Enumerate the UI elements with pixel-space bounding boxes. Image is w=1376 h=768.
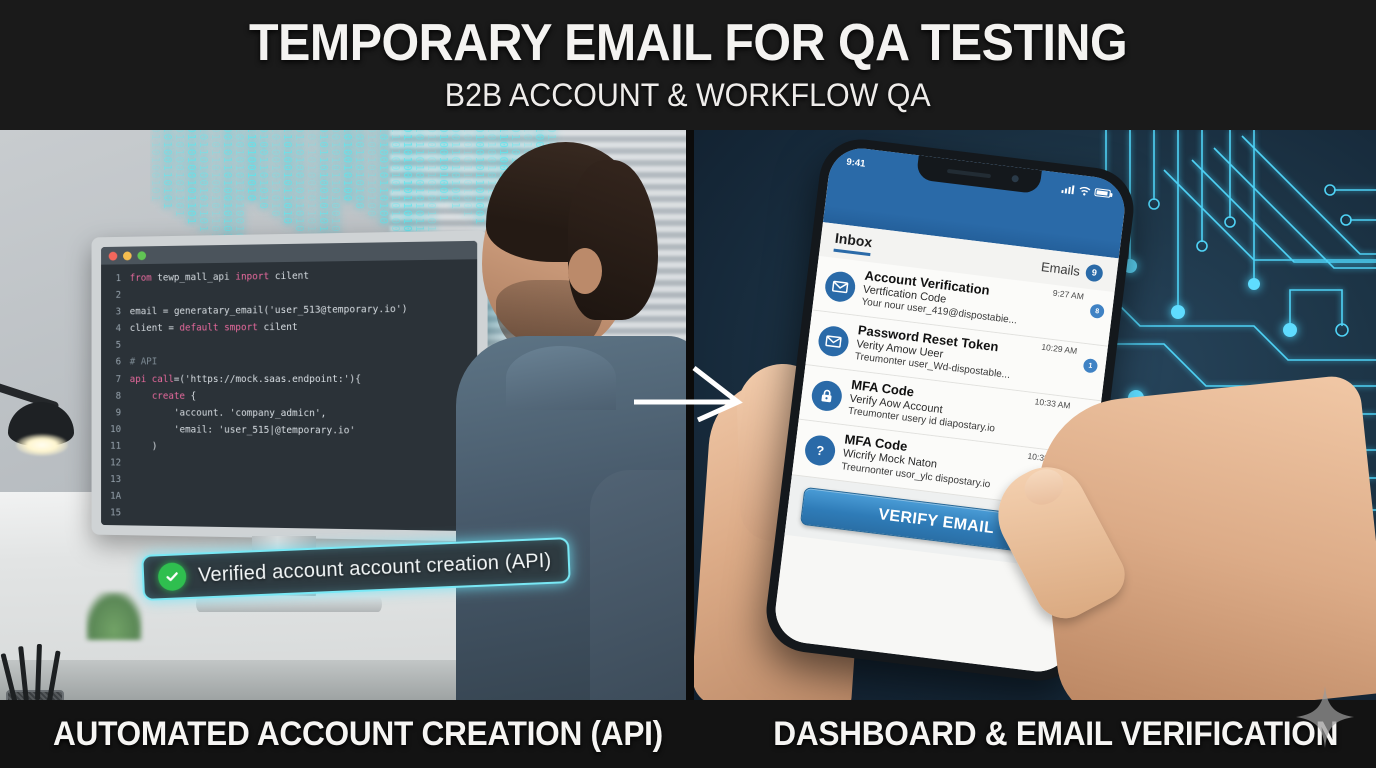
code-line-number: 1: [101, 270, 130, 287]
code-line-number: 1A: [101, 488, 130, 505]
left-panel-office-scene: 0110100101101001101010101001011010110100…: [0, 130, 686, 700]
code-editor[interactable]: 1from tewp_mall_api inport cilent23email…: [101, 259, 477, 531]
earpiece-speaker: [947, 169, 991, 178]
monitor-base: [196, 596, 382, 612]
digital-rain-column: 010010110100: [366, 130, 377, 217]
small-plant: [86, 592, 142, 640]
code-line: 5: [101, 335, 477, 354]
digital-rain-column: 010110100101101: [210, 130, 221, 240]
email-unread-badge: 8: [1089, 303, 1105, 319]
digital-rain-column: 1010010100: [342, 130, 353, 202]
digital-rain-column: 1101001011010: [282, 130, 293, 225]
code-line-number: 6: [101, 354, 130, 371]
status-time: 9:41: [846, 156, 866, 169]
lock-icon: [810, 379, 843, 412]
code-line-number: 13: [101, 471, 130, 488]
svg-text:?: ?: [815, 443, 825, 459]
code-line-number: 9: [101, 404, 130, 421]
code-line: 6# API: [101, 353, 477, 371]
digital-rain-column: 101101001011010: [306, 130, 317, 240]
wifi-icon: [1078, 186, 1091, 196]
poster-root: TEMPORARY EMAIL FOR QA TESTING B2B ACCOU…: [0, 0, 1376, 768]
person-hair-back: [568, 160, 658, 320]
digital-rain-column: 011010010110100: [402, 130, 413, 240]
code-line-number: 12: [101, 455, 130, 472]
digital-rain-column: 101001011010: [270, 130, 281, 217]
code-line-number: 4: [101, 320, 130, 337]
signal-icon: [1061, 184, 1075, 195]
person-arm: [590, 470, 686, 700]
digital-rain-column: 0101101001010110: [318, 130, 329, 248]
digital-rain-column: 1010010110100: [378, 130, 389, 225]
code-line-number: 10: [101, 421, 130, 438]
header-bar: TEMPORARY EMAIL FOR QA TESTING B2B ACCOU…: [0, 0, 1376, 130]
close-dot-icon[interactable]: [109, 251, 118, 260]
code-line-text: create {: [130, 388, 196, 405]
envelope-icon: [823, 270, 856, 303]
panels-row: 0110100101101001101010101001011010110100…: [0, 130, 1376, 700]
code-line-number: 11: [101, 438, 130, 455]
code-line-text: 'email: 'user_515|@temporary.io': [130, 421, 356, 439]
emails-count-badge: 9: [1085, 263, 1104, 282]
digital-rain-column: 010100101101: [174, 130, 185, 217]
status-indicators: [1061, 184, 1111, 199]
pen-cup: [6, 690, 64, 700]
code-line: 10 'email: 'user_515|@temporary.io': [101, 421, 477, 440]
code-line-text: email = generatary_email('user_513@tempo…: [130, 301, 408, 321]
code-line-text: from tewp_mall_api inport cilent: [130, 268, 309, 287]
desk-lamp-light: [16, 434, 68, 456]
code-line: 7api call=('https://mock.saas.endpoint:'…: [101, 370, 477, 387]
digital-rain-column: 11010010110100: [390, 130, 401, 233]
page-subtitle: B2B ACCOUNT & WORKFLOW QA: [445, 77, 931, 114]
code-line-number: 15: [101, 505, 130, 522]
code-line-number: 8: [101, 388, 130, 405]
caption-left: AUTOMATED ACCOUNT CREATION (API): [53, 700, 663, 768]
person-ear: [568, 248, 602, 294]
check-circle-icon: [158, 562, 187, 591]
person-collar: [506, 346, 616, 410]
battery-icon: [1094, 188, 1111, 198]
front-camera: [1011, 175, 1019, 183]
envelope-icon: [817, 325, 850, 358]
digital-rain-column: 10110100101101: [198, 130, 209, 233]
code-line-text: 'account. 'company_admicn',: [130, 404, 327, 422]
digital-rain-column: 0010110100101011: [222, 130, 233, 248]
flow-arrow-icon: [632, 362, 752, 422]
digital-rain-column: 01101001011010: [294, 130, 305, 233]
digital-rain-column: 0110100101101: [186, 130, 197, 225]
digital-rain-column: 10100110101: [162, 130, 173, 210]
caption-right: DASHBOARD & EMAIL VERIFICATION: [773, 700, 1338, 768]
digital-rain-column: 10011010100: [354, 130, 365, 210]
code-line: 9 'account. 'company_admicn',: [101, 404, 477, 422]
digital-rain-column: 01001101010: [258, 130, 269, 210]
question-icon: ?: [803, 434, 836, 467]
code-line-text: # API: [130, 354, 158, 371]
maximize-dot-icon[interactable]: [137, 251, 146, 260]
sparkle-diamond-icon: [1296, 686, 1354, 748]
verified-banner-label: Verified account account creation (API): [198, 549, 552, 587]
tab-emails-group[interactable]: Emails 9: [1040, 258, 1104, 282]
pencil: [35, 644, 42, 700]
code-line: 8 create {: [101, 388, 477, 406]
code-line-text: client = default smport cilent: [130, 319, 298, 337]
desktop-monitor: 1from tewp_mall_api inport cilent23email…: [92, 230, 488, 541]
code-line-text: api call=('https://mock.saas.endpoint:')…: [130, 370, 361, 387]
tab-emails[interactable]: Emails: [1040, 259, 1081, 279]
monitor-screen: 1from tewp_mall_api inport cilent23email…: [101, 241, 477, 531]
code-line-number: 5: [101, 337, 130, 354]
code-line-text: ): [130, 438, 158, 455]
digital-rain-column: 1011010010101101: [414, 130, 425, 248]
digital-rain-column: 0110100101: [150, 130, 161, 202]
code-line-number: 7: [101, 371, 130, 388]
code-line-number: 3: [101, 304, 130, 321]
code-line: 4client = default smport cilent: [101, 318, 477, 338]
page-title: TEMPORARY EMAIL FOR QA TESTING: [249, 16, 1127, 71]
right-panel-phone-scene: 9:41: [694, 130, 1376, 700]
footer-bar: AUTOMATED ACCOUNT CREATION (API) DASHBOA…: [0, 700, 1376, 768]
digital-rain-column: 1101001010: [246, 130, 257, 202]
tab-inbox[interactable]: Inbox: [833, 230, 873, 256]
code-line-number: 2: [101, 287, 130, 304]
minimize-dot-icon[interactable]: [123, 251, 132, 260]
